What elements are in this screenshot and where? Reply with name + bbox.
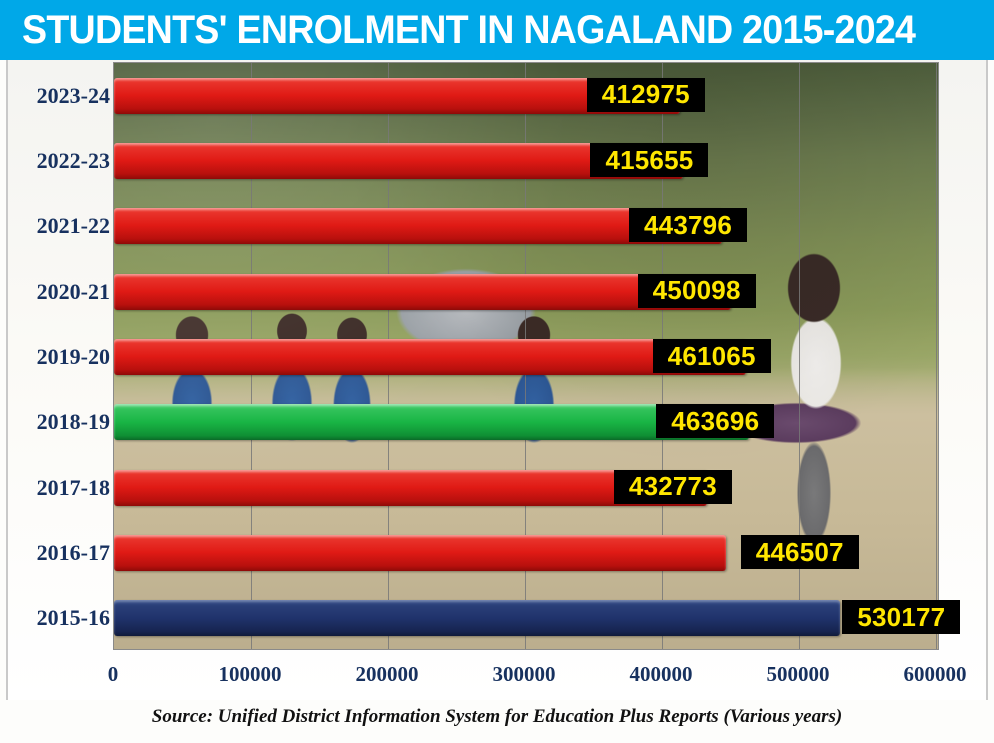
category-label-2015-16: 2015-16 [14,607,110,629]
value-label-2019-20: 461065 [653,339,771,373]
value-label-2016-17: 446507 [741,535,859,569]
value-label-2023-24: 412975 [587,78,705,112]
value-label-2015-16: 530177 [842,600,960,634]
infographic-root: STUDENTS' ENROLMENT IN NAGALAND 2015-202… [0,0,994,743]
value-label-2022-23: 415655 [590,143,708,177]
category-label-2018-19: 2018-19 [14,411,110,433]
value-label-2020-21: 450098 [638,274,756,308]
x-axis-tick-label: 200000 [356,662,419,687]
x-axis-tick-label: 300000 [493,662,556,687]
category-label-2023-24: 2023-24 [14,85,110,107]
x-axis-tick-label: 600000 [904,662,967,687]
bar-2019-20[interactable] [114,339,746,375]
category-label-2021-22: 2021-22 [14,215,110,237]
page-title: STUDENTS' ENROLMENT IN NAGALAND 2015-202… [22,10,915,50]
category-label-2019-20: 2019-20 [14,346,110,368]
title-banner: STUDENTS' ENROLMENT IN NAGALAND 2015-202… [0,0,994,60]
x-axis-tick-label: 500000 [767,662,830,687]
value-label-2018-19: 463696 [656,404,774,438]
gridline [936,63,937,649]
bar-2016-17[interactable] [114,535,726,571]
value-label-2021-22: 443796 [629,208,747,242]
value-label-2017-18: 432773 [614,470,732,504]
category-label-2017-18: 2017-18 [14,477,110,499]
category-label-2022-23: 2022-23 [14,150,110,172]
source-note: Source: Unified District Information Sys… [0,706,994,728]
bar-2015-16[interactable] [114,600,840,636]
x-axis-tick-label: 400000 [630,662,693,687]
category-label-2016-17: 2016-17 [14,542,110,564]
category-label-2020-21: 2020-21 [14,281,110,303]
x-axis-tick-label: 100000 [219,662,282,687]
bar-2018-19[interactable] [114,404,749,440]
x-axis-tick-label: 0 [108,662,119,687]
